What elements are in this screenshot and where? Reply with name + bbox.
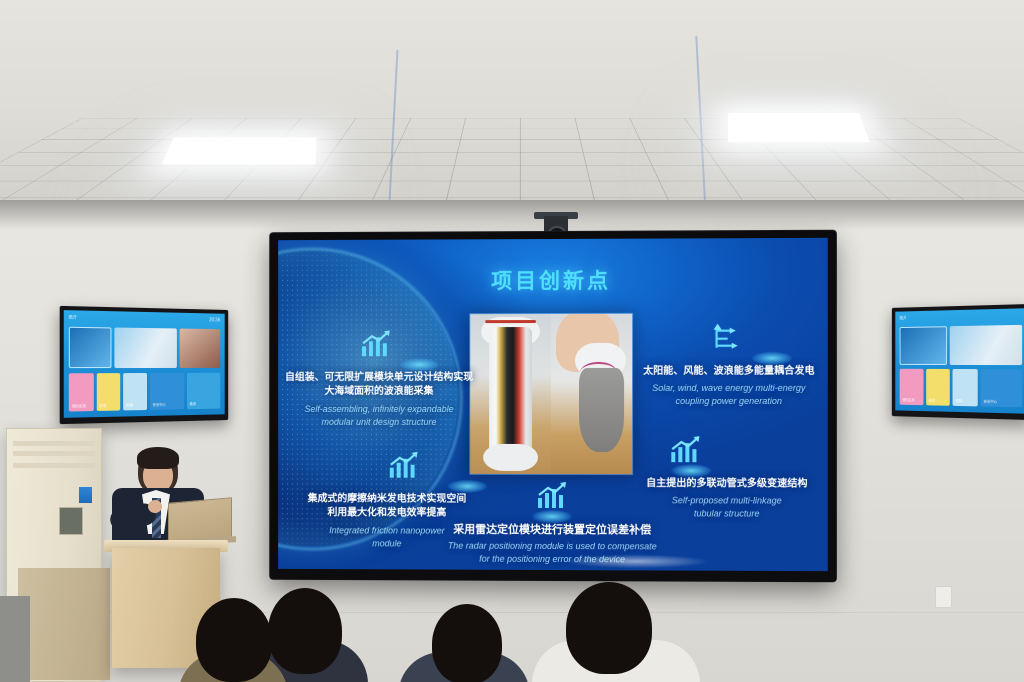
- banner-thumb-3[interactable]: [179, 329, 220, 368]
- tile-label: 我的应用: [72, 404, 86, 409]
- slide-canvas: 项目创新点: [278, 238, 828, 571]
- tile-my-apps[interactable]: 我的应用: [900, 369, 924, 405]
- left-tv-banner-row: [69, 327, 220, 368]
- audience-head-3: [566, 582, 652, 674]
- tile-security-center[interactable]: 安全中心: [981, 369, 1022, 407]
- tile-label: 购物: [956, 399, 962, 404]
- left-tv-brand-label: 酷开: [69, 314, 77, 319]
- right-tv[interactable]: 酷开 我的应用 影视 购物 安全中心: [892, 304, 1024, 420]
- ac-display-panel[interactable]: [59, 507, 83, 535]
- tile-security-center[interactable]: 安全中心: [150, 372, 184, 410]
- side-cabinet: [18, 568, 110, 680]
- presentation-room-photo: 项目创新点: [0, 0, 1024, 682]
- left-tv[interactable]: 酷开 20:36 我的应用 影视 购物 安全中心 教育: [60, 306, 229, 424]
- tile-label: 教育: [190, 402, 196, 407]
- wall-top-shadow: [0, 200, 1024, 230]
- wall-outlet: [935, 586, 952, 608]
- slide-title: 项目创新点: [278, 264, 828, 296]
- left-tv-screen: 酷开 20:36 我的应用 影视 购物 安全中心 教育: [64, 310, 225, 418]
- right-tv-banner-row: [900, 325, 1023, 365]
- tile-shopping[interactable]: 购物: [953, 369, 978, 406]
- node-en-line-2: modular unit design structure: [282, 416, 476, 429]
- banner-thumb-1[interactable]: [69, 327, 112, 368]
- right-tv-screen: 酷开 我的应用 影视 购物 安全中心: [895, 308, 1024, 414]
- right-tv-tile-row: 我的应用 影视 购物 安全中心: [900, 369, 1023, 407]
- branching-arrows-icon: [702, 323, 748, 363]
- left-tv-clock: 20:36: [209, 317, 220, 323]
- audience-head-4: [196, 598, 272, 682]
- node-cn-line-2: 大海域面积的波浪能采集: [282, 385, 476, 399]
- ac-brand-badge: [79, 487, 92, 503]
- banner-thumb-2[interactable]: [950, 325, 1023, 365]
- display-glare: [562, 554, 710, 569]
- node-en-line-1: The radar positioning module is used to …: [405, 539, 701, 553]
- ac-louver: [13, 441, 95, 446]
- tile-label: 影视: [929, 398, 935, 403]
- node-en-line-1: Self-assembling, infinitely expandable: [282, 403, 476, 416]
- main-display[interactable]: 项目创新点: [270, 231, 836, 582]
- ceiling-light-right: [728, 113, 870, 142]
- node-cn-line-1: 采用雷达定位模块进行装置定位误差补偿: [405, 523, 701, 538]
- node-en-line-2: coupling power generation: [628, 395, 828, 408]
- ac-louver: [13, 451, 95, 456]
- growth-chart-arrow-icon: [662, 435, 708, 475]
- node-en-line-1: Solar, wind, wave energy multi-energy: [628, 382, 828, 395]
- prototype-photo-pair: [469, 313, 633, 475]
- tile-shopping[interactable]: 购物: [123, 373, 147, 411]
- tile-label: 购物: [126, 403, 133, 408]
- growth-chart-arrow-icon: [353, 329, 399, 369]
- tile-video[interactable]: 影视: [926, 369, 950, 406]
- banner-thumb-2[interactable]: [114, 327, 176, 367]
- presenter-hair: [137, 447, 179, 469]
- node-self-assembling: 自组装、可无限扩展模块单元设计结构实现 大海域面积的波浪能采集 Self-ass…: [282, 329, 476, 429]
- tile-label: 影视: [99, 404, 106, 409]
- hand-holding-buoy-prototype-photo: [551, 314, 632, 474]
- tile-label: 安全中心: [153, 403, 166, 408]
- audience-head-2: [432, 604, 502, 682]
- side-panel-grey: [0, 596, 30, 682]
- tile-label: 我的应用: [902, 398, 914, 403]
- ceiling-light-left: [162, 138, 316, 165]
- node-cn-line-1: 太阳能、风能、波浪能多能量耦合发电: [628, 365, 828, 379]
- ceiling-tile-grid: [0, 118, 1024, 212]
- left-tv-tile-row: 我的应用 影视 购物 安全中心 教育: [69, 372, 220, 411]
- drop-ceiling: [0, 0, 1024, 212]
- node-cn-line-1: 自组装、可无限扩展模块单元设计结构实现: [282, 371, 476, 385]
- tile-video[interactable]: 影视: [96, 373, 120, 411]
- presenter-hand: [148, 500, 162, 513]
- tile-my-apps[interactable]: 我的应用: [69, 373, 94, 412]
- right-tv-brand-label: 酷开: [900, 315, 907, 320]
- tile-label: 安全中心: [984, 399, 997, 404]
- tile-education[interactable]: 教育: [187, 372, 220, 409]
- growth-chart-arrow-icon: [529, 481, 575, 521]
- ac-louver: [13, 463, 95, 468]
- audience-head-1: [268, 588, 342, 674]
- banner-thumb-1[interactable]: [900, 326, 947, 365]
- node-multi-energy: 太阳能、风能、波浪能多能量耦合发电 Solar, wind, wave ener…: [628, 322, 828, 408]
